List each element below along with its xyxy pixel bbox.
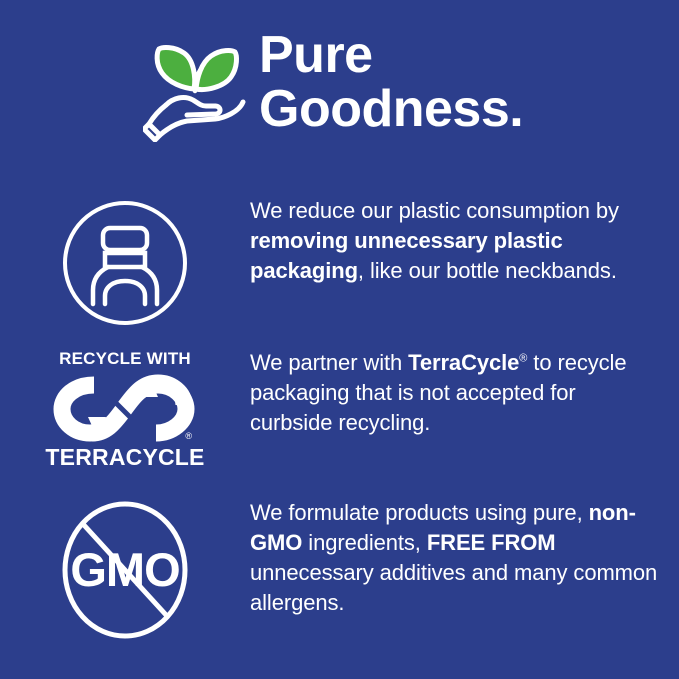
terracycle-top-label: RECYCLE WITH bbox=[59, 350, 191, 368]
benefit-text-gmo: We formulate products using pure, non-GM… bbox=[250, 498, 661, 618]
no-gmo-icon: GMO bbox=[60, 500, 190, 640]
pure-goodness-infographic: Pure Goodness. We reduce ou bbox=[0, 0, 679, 679]
text-cell: We reduce our plastic consumption by rem… bbox=[250, 196, 679, 286]
benefit-text-terracycle: We partner with TerraCycle® to recycle p… bbox=[250, 348, 661, 438]
header: Pure Goodness. bbox=[143, 28, 523, 142]
benefit-row-plastic: We reduce our plastic consumption by rem… bbox=[0, 196, 679, 328]
icon-cell bbox=[0, 196, 250, 328]
benefit-row-terracycle: RECYCLE WITH ® TERRACYCLE bbox=[0, 348, 679, 469]
hand-holding-plant-icon bbox=[143, 34, 249, 142]
benefit-text-plastic: We reduce our plastic consumption by rem… bbox=[250, 196, 661, 286]
benefit-row-gmo: GMO We formulate products using pure, no… bbox=[0, 498, 679, 640]
recycle-infinity-icon: ® bbox=[52, 371, 198, 443]
terracycle-bottom-label: TERRACYCLE bbox=[45, 445, 204, 469]
icon-cell: RECYCLE WITH ® TERRACYCLE bbox=[0, 348, 250, 469]
icon-cell: GMO bbox=[0, 498, 250, 640]
page-title: Pure Goodness. bbox=[259, 28, 523, 136]
text-cell: We formulate products using pure, non-GM… bbox=[250, 498, 679, 618]
text-cell: We partner with TerraCycle® to recycle p… bbox=[250, 348, 679, 438]
bottle-neckband-icon bbox=[60, 198, 190, 328]
registered-trademark-mark: ® bbox=[185, 432, 192, 441]
gmo-label: GMO bbox=[70, 543, 179, 596]
terracycle-logo: RECYCLE WITH ® TERRACYCLE bbox=[52, 350, 198, 469]
